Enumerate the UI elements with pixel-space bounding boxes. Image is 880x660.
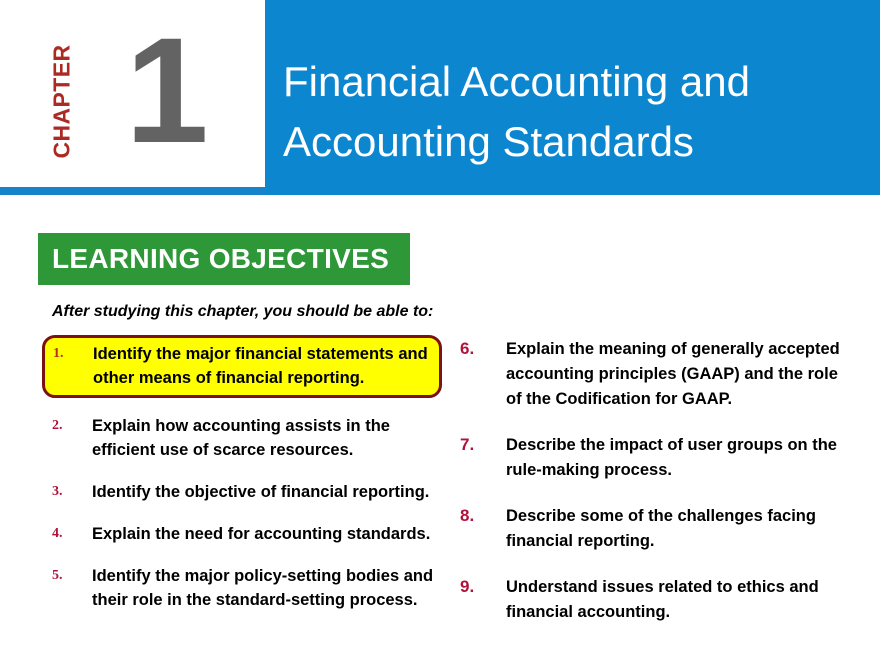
list-item[interactable]: 7. Describe the impact of user groups on… [450, 431, 850, 485]
list-item[interactable]: 3. Identify the objective of financial r… [42, 478, 442, 506]
list-item-label: Identify the major financial statements … [93, 342, 435, 390]
list-item[interactable]: 5. Identify the major policy-setting bod… [42, 562, 442, 614]
list-item-number: 9. [456, 575, 506, 599]
list-item[interactable]: 9. Understand issues related to ethics a… [450, 573, 850, 627]
list-item-label: Identify the objective of financial repo… [92, 480, 438, 504]
page-title: Financial Accounting and Accounting Stan… [283, 52, 863, 172]
chapter-label: CHAPTER [49, 27, 76, 177]
list-item-number: 8. [456, 504, 506, 528]
header-blue-rule [0, 187, 265, 195]
chapter-number: 1 [112, 10, 222, 170]
list-item-label: Identify the major policy-setting bodies… [92, 564, 438, 612]
list-item[interactable]: 4. Explain the need for accounting stand… [42, 520, 442, 548]
list-item[interactable]: 8. Describe some of the challenges facin… [450, 502, 850, 556]
page-title-line-2: Accounting Standards [283, 112, 863, 172]
list-item-label: Explain how accounting assists in the ef… [92, 414, 438, 462]
objectives-right-column: 6. Explain the meaning of generally acce… [450, 335, 850, 644]
learning-objectives-subtitle: After studying this chapter, you should … [52, 303, 433, 321]
list-item-label: Explain the meaning of generally accepte… [506, 337, 846, 412]
list-item-number: 7. [456, 433, 506, 457]
list-item-label: Describe some of the challenges facing f… [506, 504, 846, 554]
page-title-line-1: Financial Accounting and [283, 52, 863, 112]
list-item[interactable]: 6. Explain the meaning of generally acce… [450, 335, 850, 414]
slide: CHAPTER 1 Financial Accounting and Accou… [0, 0, 880, 660]
list-item-label: Describe the impact of user groups on th… [506, 433, 846, 483]
learning-objectives-banner-label: LEARNING OBJECTIVES [38, 243, 389, 275]
list-item-number: 4. [48, 522, 92, 546]
list-item-number: 3. [48, 480, 92, 504]
list-item[interactable]: 1. Identify the major financial statemen… [42, 335, 442, 398]
list-item-label: Explain the need for accounting standard… [92, 522, 438, 546]
list-item-number: 6. [456, 337, 506, 361]
slide-header: CHAPTER 1 Financial Accounting and Accou… [0, 0, 880, 196]
list-item-label: Understand issues related to ethics and … [506, 575, 846, 625]
list-item-number: 2. [48, 414, 92, 438]
objectives-left-column: 1. Identify the major financial statemen… [42, 335, 442, 628]
list-item[interactable]: 2. Explain how accounting assists in the… [42, 412, 442, 464]
learning-objectives-banner: LEARNING OBJECTIVES [38, 233, 410, 285]
list-item-number: 5. [48, 564, 92, 588]
list-item-number: 1. [49, 342, 93, 366]
